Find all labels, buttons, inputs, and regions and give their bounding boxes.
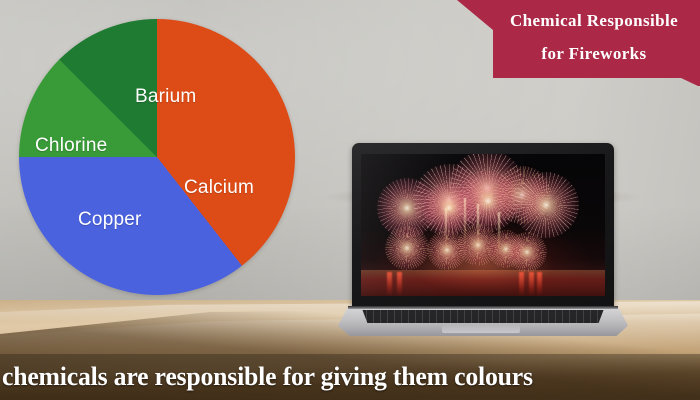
pie-chart: Barium Chlorine Copper Calcium <box>19 19 295 295</box>
pie-slice-label-chlorine: Chlorine <box>35 135 107 157</box>
fireworks-photo <box>361 154 605 296</box>
pie-disc <box>19 19 295 295</box>
pie-slice-label-calcium: Calcium <box>184 177 254 199</box>
laptop-lid <box>352 143 614 308</box>
laptop-trackpad <box>442 325 520 333</box>
caption-text: chemicals are responsible for giving the… <box>0 364 533 390</box>
laptop-keyboard <box>360 310 606 323</box>
pie-slice-label-copper: Copper <box>78 209 142 231</box>
pie-slice-label-barium: Barium <box>135 86 196 108</box>
image-canvas: Barium Chlorine Copper Calcium Chemical … <box>0 0 700 400</box>
caption-bar: chemicals are responsible for giving the… <box>0 354 700 400</box>
laptop-screen <box>361 154 605 296</box>
